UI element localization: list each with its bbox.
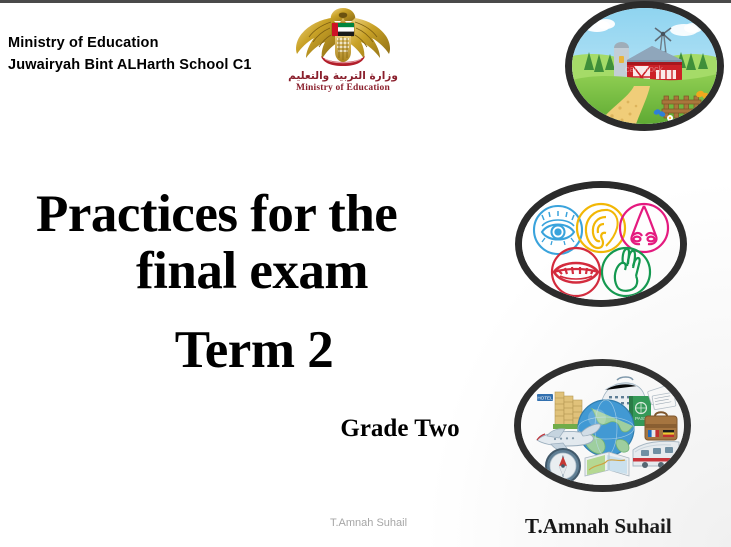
moe-english-label: Ministry of Education	[287, 83, 399, 94]
title-line-3-term: Term 2	[14, 322, 494, 379]
presentation-slide: Ministry of Education Juwairyah Bint ALH…	[0, 0, 731, 547]
svg-text:N: N	[562, 455, 565, 459]
teacher-credit-faint: T.Amnah Suhail	[330, 517, 407, 529]
title-line-2: final exam	[14, 243, 514, 300]
school-header: Ministry of Education Juwairyah Bint ALH…	[8, 32, 252, 77]
grade-label: Grade Two	[250, 415, 550, 443]
moe-emblem: وزارة التربية والتعليم Ministry of Educa…	[287, 4, 399, 104]
ministry-label: Ministry of Education	[8, 32, 252, 54]
svg-text:can stock: can stock	[625, 64, 664, 74]
moe-arabic-label: وزارة التربية والتعليم	[287, 71, 399, 83]
top-border-strip	[0, 0, 731, 3]
svg-text:HOTEL: HOTEL	[537, 396, 553, 401]
school-name-label: Juwairyah Bint ALHarth School C1	[8, 54, 252, 76]
teacher-credit-bold: T.Amnah Suhail	[525, 514, 672, 539]
falcon-icon	[287, 4, 399, 70]
five-senses-oval-image	[522, 188, 680, 300]
farm-illustration: can stock	[572, 8, 717, 124]
main-title: Practices for the final exam	[14, 186, 514, 300]
farm-scene-oval-image: can stock	[572, 8, 717, 124]
title-line-1: Practices for the	[14, 186, 514, 243]
five-senses-illustration	[522, 188, 680, 300]
